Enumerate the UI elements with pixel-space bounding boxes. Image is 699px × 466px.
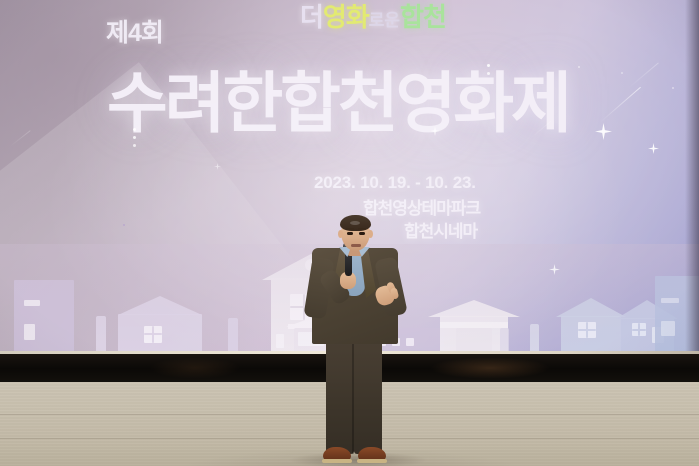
speaker-trouser-right (354, 336, 382, 454)
speaker-eye-right (359, 232, 365, 235)
speaker-trouser-seam (352, 338, 354, 454)
speaker-eye-left (347, 232, 353, 235)
speaker-hair-highlight (350, 221, 360, 225)
kicker-part-4: 합천 (400, 2, 446, 32)
kicker-part-1: 더 (300, 2, 323, 32)
screenshot-root: 더영화로운합천 제4회 수려한합천영화제 2023. 10. 19. - 10.… (0, 0, 699, 466)
speaker-brow-left (346, 228, 354, 230)
speaker-shoe-sole-left (322, 459, 352, 463)
speaker-figure (296, 214, 414, 466)
screen-right-edge (685, 0, 699, 354)
kicker-part-2: 영화 (323, 2, 369, 32)
speaker-trouser-left (326, 336, 354, 454)
speaker-ear-right (368, 230, 373, 238)
speaker-mouth (351, 244, 361, 247)
title-accent-dot (133, 144, 136, 147)
poster-kicker: 더영화로운합천 (300, 2, 446, 36)
poster-title: 수려한합천영화제 (107, 62, 569, 144)
kicker-part-3: 로운 (369, 11, 400, 30)
speaker-shoe-sole-right (357, 459, 387, 463)
poster-edition: 제4회 (106, 19, 163, 47)
speaker-brow-right (358, 228, 366, 230)
stage-band-reflection (430, 357, 550, 379)
poster-date-range: 2023. 10. 19. - 10. 23. (314, 172, 476, 193)
stage-band-reflection (150, 357, 240, 379)
speaker-ear-left (338, 230, 343, 238)
poster-venue-line-2: 합천시네마 (404, 221, 477, 242)
